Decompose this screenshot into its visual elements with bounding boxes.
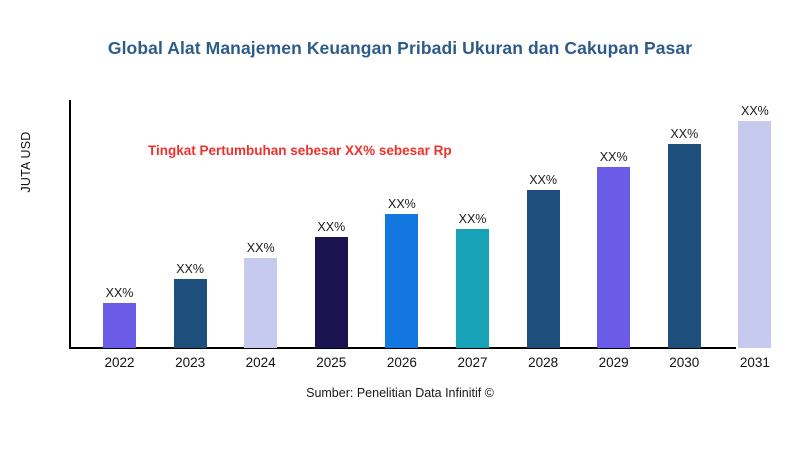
bar-2023[interactable]	[174, 279, 207, 348]
x-tick-2031: 2031	[725, 355, 785, 370]
bar-2030[interactable]	[668, 144, 701, 348]
bar-group-2026: XX%	[385, 188, 418, 348]
bar-value-label-2025: XX%	[317, 220, 345, 234]
bar-group-2031: XX%	[738, 95, 771, 348]
x-tick-2024: 2024	[231, 355, 291, 370]
bar-2026[interactable]	[385, 214, 418, 348]
x-tick-2023: 2023	[160, 355, 220, 370]
bar-2029[interactable]	[597, 167, 630, 348]
bar-value-label-2023: XX%	[176, 262, 204, 276]
x-tick-2030: 2030	[654, 355, 714, 370]
bar-value-label-2026: XX%	[388, 197, 416, 211]
bar-group-2030: XX%	[668, 118, 701, 348]
bar-value-label-2024: XX%	[247, 241, 275, 255]
bar-value-label-2028: XX%	[529, 173, 557, 187]
x-tick-2029: 2029	[584, 355, 644, 370]
bar-2031[interactable]	[738, 121, 771, 348]
bar-group-2023: XX%	[174, 253, 207, 348]
bar-value-label-2030: XX%	[670, 127, 698, 141]
bar-value-label-2027: XX%	[459, 212, 487, 226]
bar-2024[interactable]	[244, 258, 277, 348]
bar-group-2027: XX%	[456, 203, 489, 348]
bar-value-label-2022: XX%	[106, 286, 134, 300]
bar-2027[interactable]	[456, 229, 489, 348]
bar-value-label-2029: XX%	[600, 150, 628, 164]
x-tick-2025: 2025	[301, 355, 361, 370]
bar-group-2028: XX%	[527, 164, 560, 348]
bar-value-label-2031: XX%	[741, 104, 769, 118]
x-tick-2027: 2027	[443, 355, 503, 370]
bar-2025[interactable]	[315, 237, 348, 348]
source-note: Sumber: Penelitian Data Infinitif ©	[0, 386, 800, 400]
bar-group-2025: XX%	[315, 211, 348, 348]
plot-area: XX%2022XX%2023XX%2024XX%2025XX%2026XX%20…	[0, 0, 800, 450]
chart-figure: Global Alat Manajemen Keuangan Pribadi U…	[0, 0, 800, 450]
bar-2022[interactable]	[103, 303, 136, 348]
x-tick-2026: 2026	[372, 355, 432, 370]
bar-group-2029: XX%	[597, 141, 630, 348]
bar-2028[interactable]	[527, 190, 560, 348]
x-tick-2022: 2022	[90, 355, 150, 370]
x-tick-2028: 2028	[513, 355, 573, 370]
bar-group-2022: XX%	[103, 277, 136, 348]
bar-group-2024: XX%	[244, 232, 277, 348]
